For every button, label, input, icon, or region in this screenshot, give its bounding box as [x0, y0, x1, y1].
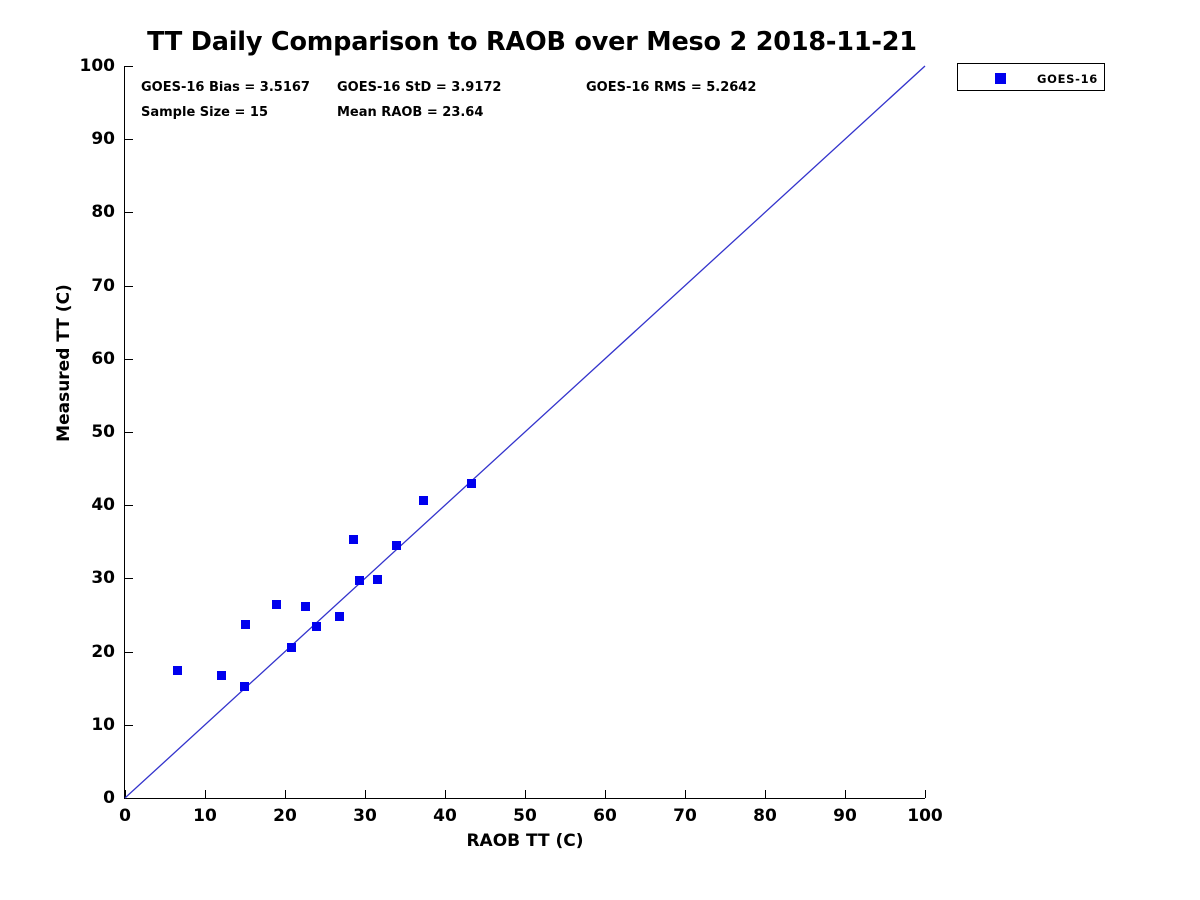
data-point [272, 600, 281, 609]
data-point [217, 671, 226, 680]
data-point [312, 622, 321, 631]
data-point [301, 602, 310, 611]
data-point [349, 535, 358, 544]
data-point [392, 541, 401, 550]
legend-label-goes-16: GOES-16 [958, 72, 1098, 86]
data-point [335, 612, 344, 621]
data-point [173, 666, 182, 675]
scatter-plot-area [125, 66, 925, 798]
data-point [287, 643, 296, 652]
legend: GOES-16 [957, 63, 1105, 91]
data-point [467, 479, 476, 488]
data-point [241, 620, 250, 629]
chart-figure: TT Daily Comparison to RAOB over Meso 2 … [0, 0, 1200, 900]
data-point [419, 496, 428, 505]
data-point [240, 682, 249, 691]
data-point [355, 576, 364, 585]
data-point [373, 575, 382, 584]
